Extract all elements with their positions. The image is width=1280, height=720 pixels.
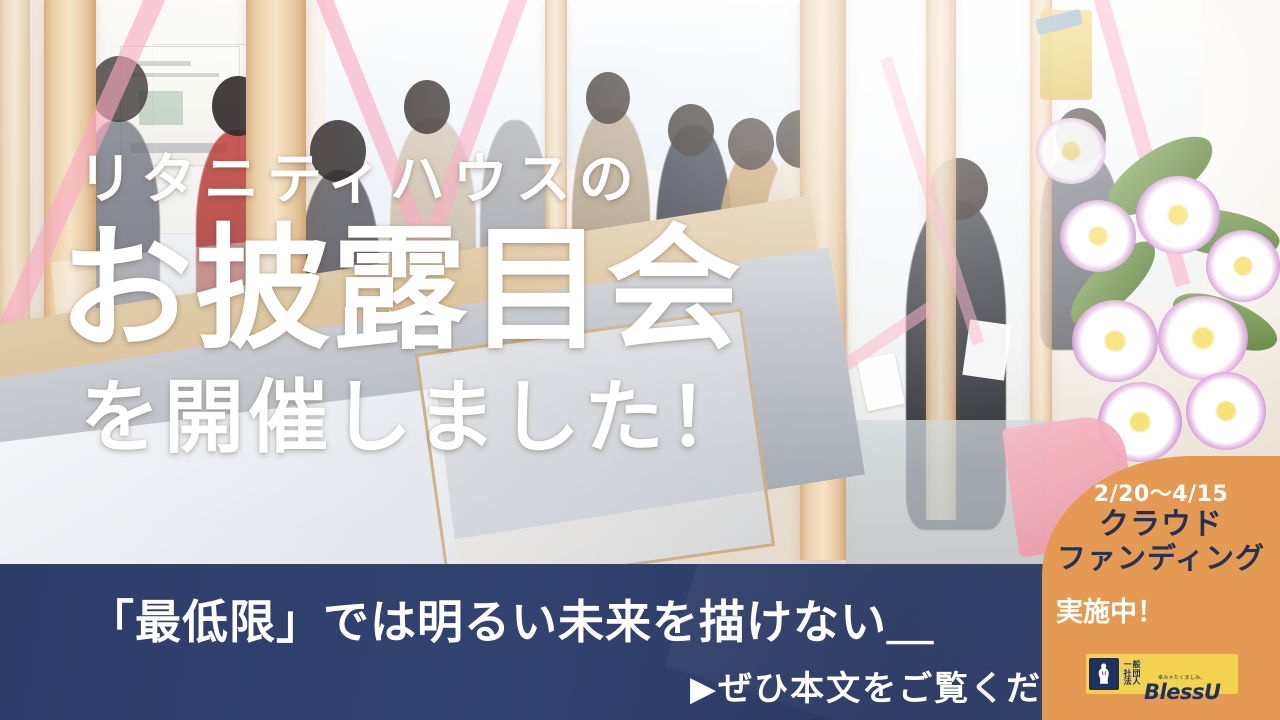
logo-brand-name: BlessU xyxy=(1144,680,1221,704)
visitor-head xyxy=(668,104,714,156)
logo-kanji-block: 一 般 社 団 法 人 xyxy=(1123,661,1141,688)
banner-main-text: 「最低限」では明るい未来を描けない＿ xyxy=(88,586,934,652)
promo-title-line-2: ファンディング xyxy=(1042,542,1280,574)
crowdfunding-panel[interactable]: 2/20〜4/15 クラウド ファンディング 実施中！ 一 般 社 団 xyxy=(1042,456,1280,720)
headline-line-2: お披露目会 xyxy=(58,222,743,357)
promo-status: 実施中！ xyxy=(1056,590,1164,629)
promo-date-range: 2/20〜4/15 xyxy=(1042,476,1280,508)
visitor-head xyxy=(728,118,774,170)
logo-kanji-row: 法 人 xyxy=(1123,678,1141,687)
orchid-flower xyxy=(1206,230,1280,302)
orchid-flower xyxy=(1186,372,1266,450)
promo-title-line-1: クラウド xyxy=(1042,508,1280,542)
headline-line-3: を開催しました！ xyxy=(80,378,752,458)
headline-line-1: リタニティハウスの xyxy=(78,152,642,207)
logo-hand-icon xyxy=(1089,658,1119,690)
orchid-flower xyxy=(1158,296,1248,380)
orchid-flower xyxy=(1072,300,1158,382)
logo-kanji-char: 法 xyxy=(1123,678,1132,687)
logo-kanji-char: 人 xyxy=(1132,678,1141,687)
visitor-head xyxy=(586,72,630,124)
promo-title: クラウド ファンディング xyxy=(1042,508,1280,574)
blessu-logo[interactable]: 一 般 社 団 法 人 幸みゃたくましみ、 BlessU xyxy=(1086,654,1238,694)
staff-head xyxy=(404,80,450,134)
banner-stage: リタニティハウスの お披露目会 を開催しました！ 「最低限」では明るい未来を描け… xyxy=(0,0,1280,720)
orchid-flower xyxy=(1060,200,1136,272)
orchid-flower xyxy=(1036,118,1106,184)
orchid-flower xyxy=(1136,176,1220,254)
